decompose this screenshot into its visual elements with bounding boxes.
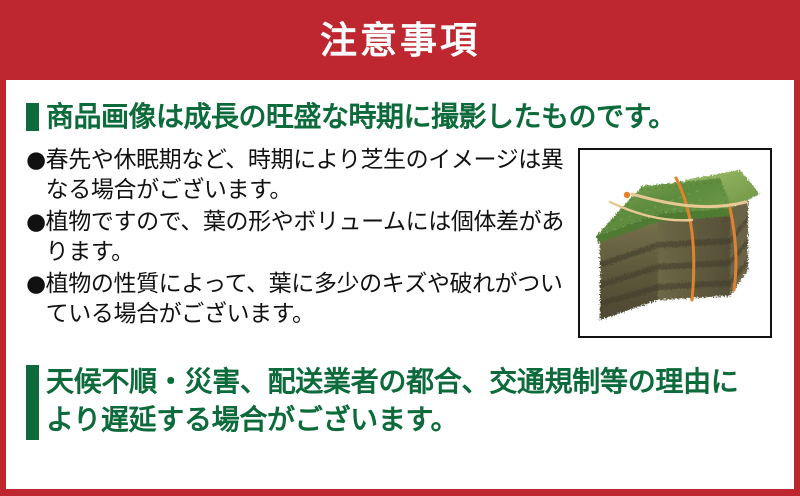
circle-bullet-icon: ● [26, 145, 46, 175]
list-item: ● 植物ですので、葉の形やボリュームには個体差があります。 [26, 207, 566, 267]
circle-bullet-icon: ● [26, 269, 46, 299]
heading-delivery-delay-text: 天候不順・災害、配送業者の都合、交通規制等の理由に より遅延する場合がございます… [46, 363, 739, 439]
list-item-text: 植物の性質によって、葉に多少のキズや破れがついている場合がございます。 [46, 269, 566, 329]
heading-delivery-delay-line-1: 天候不順・災害、配送業者の都合、交通規制等の理由に [46, 363, 739, 401]
notice-card: 注意事項 商品画像は成長の旺盛な時期に撮影したものです。 ● 春先や休眠期など、… [0, 0, 800, 496]
heading-delivery-delay-line-2: より遅延する場合がございます。 [46, 401, 739, 439]
list-item: ● 春先や休眠期など、時期により芝生のイメージは異なる場合がございます。 [26, 145, 566, 205]
product-photo-frame [578, 148, 772, 338]
page-title: 注意事項 [320, 22, 480, 59]
product-photo [580, 150, 770, 336]
circle-bullet-icon: ● [26, 207, 46, 237]
square-bullet-icon [26, 103, 39, 131]
list-item-text: 植物ですので、葉の形やボリュームには個体差があります。 [46, 207, 566, 267]
notes-list: ● 春先や休眠期など、時期により芝生のイメージは異なる場合がございます。 ● 植… [26, 145, 566, 331]
notice-banner: 注意事項 [0, 0, 800, 80]
sod-stack-photo-icon [580, 150, 770, 336]
heading-product-image: 商品画像は成長の旺盛な時期に撮影したものです。 [26, 101, 676, 132]
list-item-text: 春先や休眠期など、時期により芝生のイメージは異なる場合がございます。 [46, 145, 566, 205]
heading-product-image-text: 商品画像は成長の旺盛な時期に撮影したものです。 [46, 101, 676, 132]
heading-delivery-delay: 天候不順・災害、配送業者の都合、交通規制等の理由に より遅延する場合がございます… [26, 363, 739, 440]
list-item: ● 植物の性質によって、葉に多少のキズや破れがついている場合がございます。 [26, 269, 566, 329]
notice-body: 商品画像は成長の旺盛な時期に撮影したものです。 ● 春先や休眠期など、時期により… [6, 80, 794, 489]
square-bullet-icon [26, 365, 39, 440]
